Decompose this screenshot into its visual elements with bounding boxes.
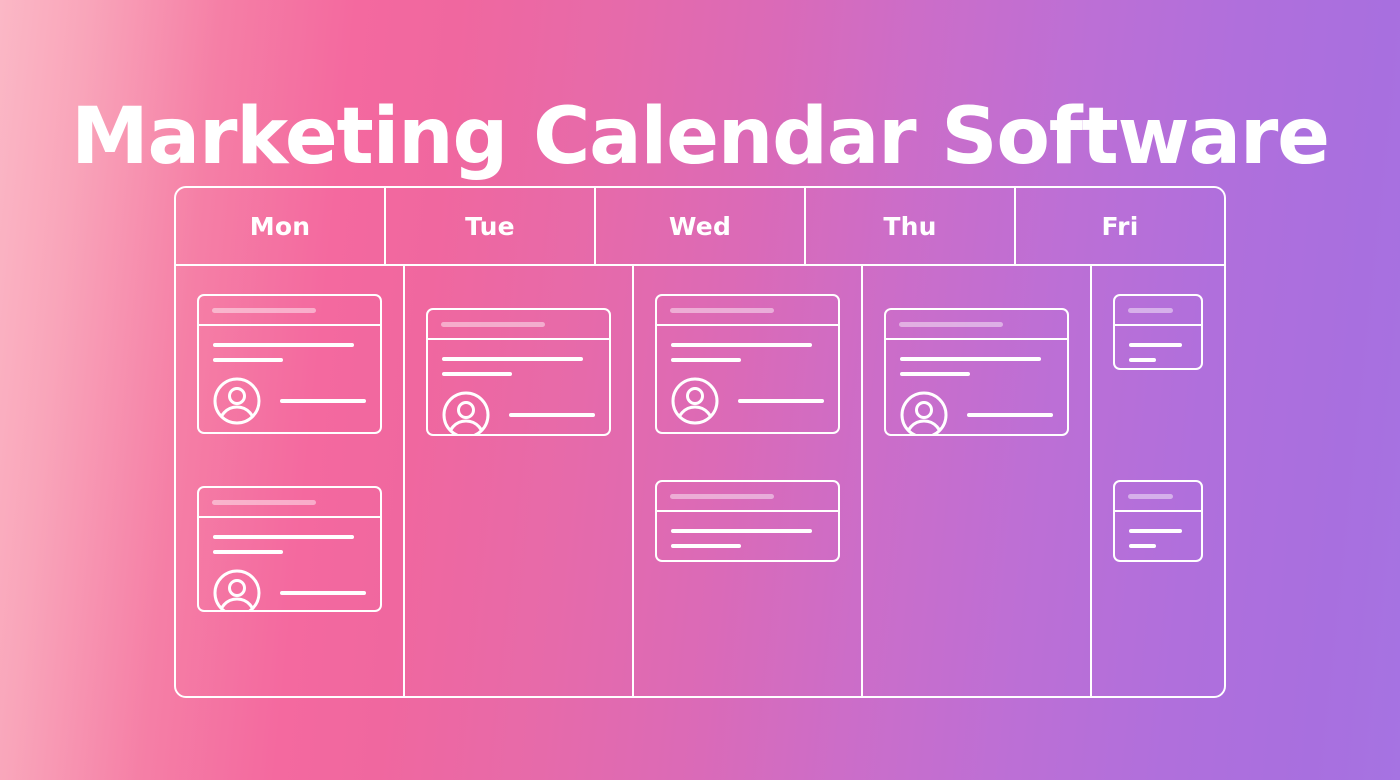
day-header-fri[interactable]: Fri	[1016, 188, 1224, 264]
event-text-line	[213, 343, 354, 347]
calendar-header-row: Mon Tue Wed Thu Fri	[176, 188, 1224, 266]
event-title-placeholder	[441, 322, 545, 327]
calendar-body	[176, 266, 1224, 696]
event-assignee-line	[967, 413, 1053, 417]
day-column-mon[interactable]	[176, 266, 405, 696]
event-card-body	[199, 326, 380, 434]
day-column-fri[interactable]	[1092, 266, 1224, 696]
page-title: Marketing Calendar Software	[0, 98, 1400, 176]
event-card-body	[1115, 326, 1201, 370]
event-text-line	[671, 544, 741, 548]
event-card-body	[657, 512, 838, 562]
event-card[interactable]	[655, 480, 840, 562]
day-header-tue[interactable]: Tue	[386, 188, 596, 264]
event-assignee-line	[280, 399, 366, 403]
event-assignee-row	[213, 373, 366, 425]
event-title-placeholder	[1128, 494, 1173, 499]
event-card[interactable]	[197, 294, 382, 434]
event-text-line	[442, 372, 512, 376]
user-avatar-icon	[213, 569, 261, 612]
event-card-header	[428, 310, 609, 340]
event-text-line	[442, 357, 583, 361]
event-text-line	[900, 372, 970, 376]
event-title-placeholder	[899, 322, 1003, 327]
event-card-body	[1115, 512, 1201, 562]
event-card-header	[199, 488, 380, 518]
event-text-line	[1129, 343, 1182, 347]
event-title-placeholder	[1128, 308, 1173, 313]
event-text-line	[671, 529, 812, 533]
event-card-header	[1115, 296, 1201, 326]
event-assignee-line	[280, 591, 366, 595]
event-assignee-row	[213, 565, 366, 612]
day-header-thu[interactable]: Thu	[806, 188, 1016, 264]
event-card-header	[886, 310, 1067, 340]
event-card-header	[657, 296, 838, 326]
event-text-line	[1129, 529, 1182, 533]
day-column-wed[interactable]	[634, 266, 863, 696]
event-assignee-line	[509, 413, 595, 417]
event-assignee-row	[900, 387, 1053, 436]
event-text-line	[1129, 358, 1156, 362]
event-text-line	[213, 535, 354, 539]
day-column-tue[interactable]	[405, 266, 634, 696]
calendar-grid: Mon Tue Wed Thu Fri	[174, 186, 1226, 698]
event-title-placeholder	[212, 500, 316, 505]
event-title-placeholder	[212, 308, 316, 313]
event-card-header	[199, 296, 380, 326]
event-text-line	[671, 358, 741, 362]
user-avatar-icon	[442, 391, 490, 436]
user-avatar-icon	[213, 377, 261, 425]
day-header-wed[interactable]: Wed	[596, 188, 806, 264]
event-assignee-row	[442, 387, 595, 436]
user-avatar-icon	[671, 377, 719, 425]
hero-banner: Marketing Calendar Software Mon Tue Wed …	[0, 0, 1400, 780]
event-title-placeholder	[670, 494, 774, 499]
user-avatar-icon	[900, 391, 948, 436]
event-text-line	[900, 357, 1041, 361]
day-header-mon[interactable]: Mon	[176, 188, 386, 264]
event-assignee-row	[671, 373, 824, 425]
event-text-line	[213, 550, 283, 554]
event-card[interactable]	[1113, 294, 1203, 370]
day-column-thu[interactable]	[863, 266, 1092, 696]
event-card-body	[657, 326, 838, 434]
event-card-body	[428, 340, 609, 436]
event-text-line	[1129, 544, 1156, 548]
event-text-line	[213, 358, 283, 362]
event-card-header	[1115, 482, 1201, 512]
event-card[interactable]	[197, 486, 382, 612]
event-card-body	[199, 518, 380, 612]
event-card[interactable]	[655, 294, 840, 434]
event-card[interactable]	[1113, 480, 1203, 562]
event-card-body	[886, 340, 1067, 436]
event-text-line	[671, 343, 812, 347]
event-title-placeholder	[670, 308, 774, 313]
event-card[interactable]	[884, 308, 1069, 436]
event-card[interactable]	[426, 308, 611, 436]
event-card-header	[657, 482, 838, 512]
event-assignee-line	[738, 399, 824, 403]
